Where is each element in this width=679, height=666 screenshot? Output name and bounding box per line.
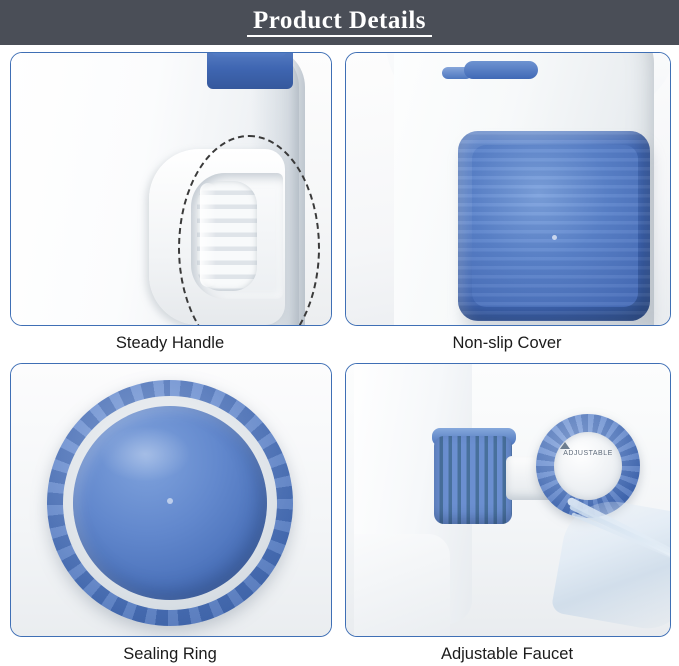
cap-center-dot: [167, 498, 173, 504]
jug-cap-top: [211, 52, 287, 57]
jug-body-lower: [354, 534, 450, 637]
caption-adjustable-faucet: Adjustable Faucet: [345, 645, 669, 664]
knob-label: ADJUSTABLE: [554, 450, 622, 457]
cap-grip-ridges: [458, 131, 650, 321]
cap-center-dot: [552, 235, 557, 240]
panel-adjustable-faucet: ADJUSTABLE Adjustable Faucet: [345, 363, 669, 659]
knob-arrow-icon: [560, 442, 570, 449]
photo-non-slip-cover: [345, 52, 671, 326]
jug-top-lug: [464, 61, 538, 79]
photo-steady-handle: [10, 52, 332, 326]
cap-inner-highlight: [99, 426, 191, 482]
panel-non-slip-cover: Non-slip Cover: [345, 52, 669, 357]
panel-grid: Steady Handle Non-slip Cover: [0, 45, 679, 666]
product-details-page: Product Details Steady Handle: [0, 0, 679, 666]
page-title: Product Details: [0, 0, 679, 45]
photo-adjustable-faucet: ADJUSTABLE: [345, 363, 671, 637]
panel-steady-handle: Steady Handle: [10, 52, 330, 357]
caption-steady-handle: Steady Handle: [10, 334, 330, 353]
header-bar: Product Details: [0, 0, 679, 45]
jug-cap: [207, 52, 293, 89]
caption-non-slip-cover: Non-slip Cover: [345, 334, 669, 353]
panel-sealing-ring: Sealing Ring: [10, 363, 330, 659]
page-title-text: Product Details: [247, 8, 432, 37]
photo-sealing-ring: [10, 363, 332, 637]
faucet-nut: [434, 436, 512, 524]
caption-sealing-ring: Sealing Ring: [10, 645, 330, 664]
